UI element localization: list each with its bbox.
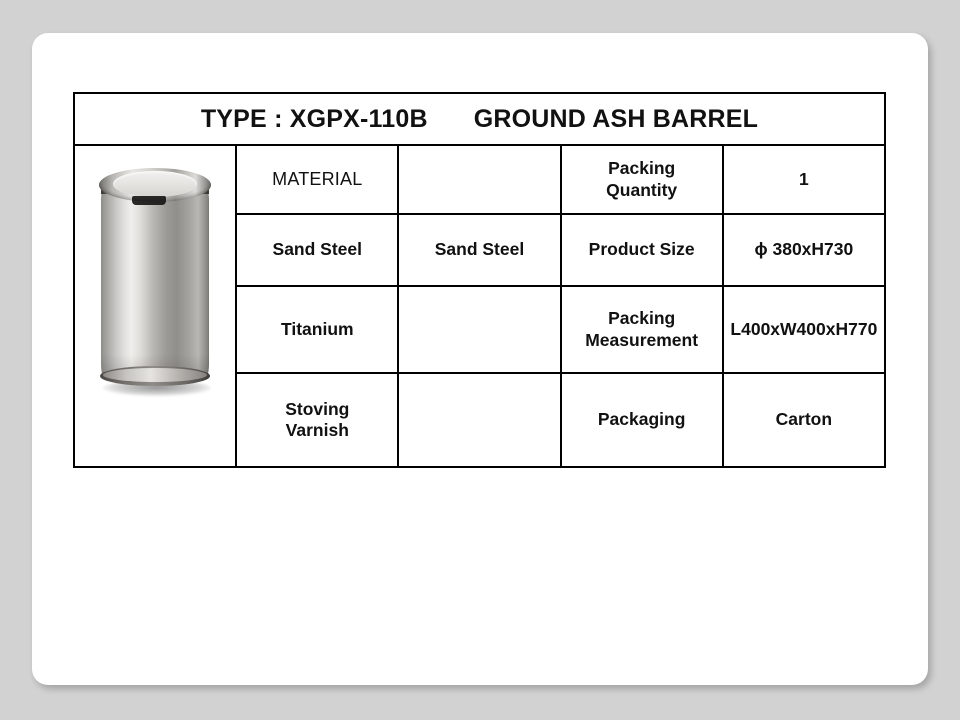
cell-sand-steel-value: Sand Steel (398, 214, 560, 286)
barrel-lid-slot (132, 196, 166, 205)
title-type-label: TYPE : XGPX-110B (201, 105, 428, 133)
product-image-cell (74, 145, 236, 467)
cell-attribute-packaging: Packaging (561, 373, 723, 467)
attribute-line-2: Measurement (562, 330, 722, 351)
table-row: MATERIAL Packing Quantity 1 (74, 145, 885, 214)
cell-detail-packing-quantity: 1 (723, 145, 885, 214)
cell-sand-steel-label: Sand Steel (236, 214, 398, 286)
cell-attribute-packing-quantity: Packing Quantity (561, 145, 723, 214)
cell-detail-product-size: ϕ 380xH730 (723, 214, 885, 286)
ash-barrel-graphic (99, 160, 211, 396)
cell-stoving-varnish-label: Stoving Varnish (236, 373, 398, 467)
cell-material-value (398, 145, 560, 214)
cell-stoving-varnish-value (398, 373, 560, 467)
cell-attribute-packing-measurement: Packing Measurement (561, 286, 723, 373)
ash-barrel-icon (75, 146, 235, 466)
page-title: TYPE : XGPX-110BGROUND ASH BARREL (74, 93, 885, 145)
barrel-base-highlight (103, 368, 207, 382)
attribute-line-1: Packing (562, 308, 722, 329)
title-product-name: GROUND ASH BARREL (474, 105, 758, 133)
slide-stage: TYPE : XGPX-110BGROUND ASH BARREL (0, 0, 960, 720)
label-line-1: Stoving (237, 399, 397, 420)
slide-card: TYPE : XGPX-110BGROUND ASH BARREL (32, 33, 928, 685)
cell-material-label: MATERIAL (236, 145, 398, 214)
attribute-line-2: Quantity (562, 180, 722, 201)
barrel-body (101, 184, 209, 380)
cell-detail-packaging: Carton (723, 373, 885, 467)
table-header-row: TYPE : XGPX-110BGROUND ASH BARREL (74, 93, 885, 145)
cell-titanium-label: Titanium (236, 286, 398, 373)
label-line-2: Varnish (237, 420, 397, 441)
cell-titanium-value (398, 286, 560, 373)
barrel-swing-lid (113, 171, 197, 197)
attribute-line-1: Packing (562, 158, 722, 179)
cell-detail-packing-measurement: L400xW400xH770 (723, 286, 885, 373)
cell-attribute-product-size: Product Size (561, 214, 723, 286)
product-spec-table: TYPE : XGPX-110BGROUND ASH BARREL (73, 92, 886, 468)
